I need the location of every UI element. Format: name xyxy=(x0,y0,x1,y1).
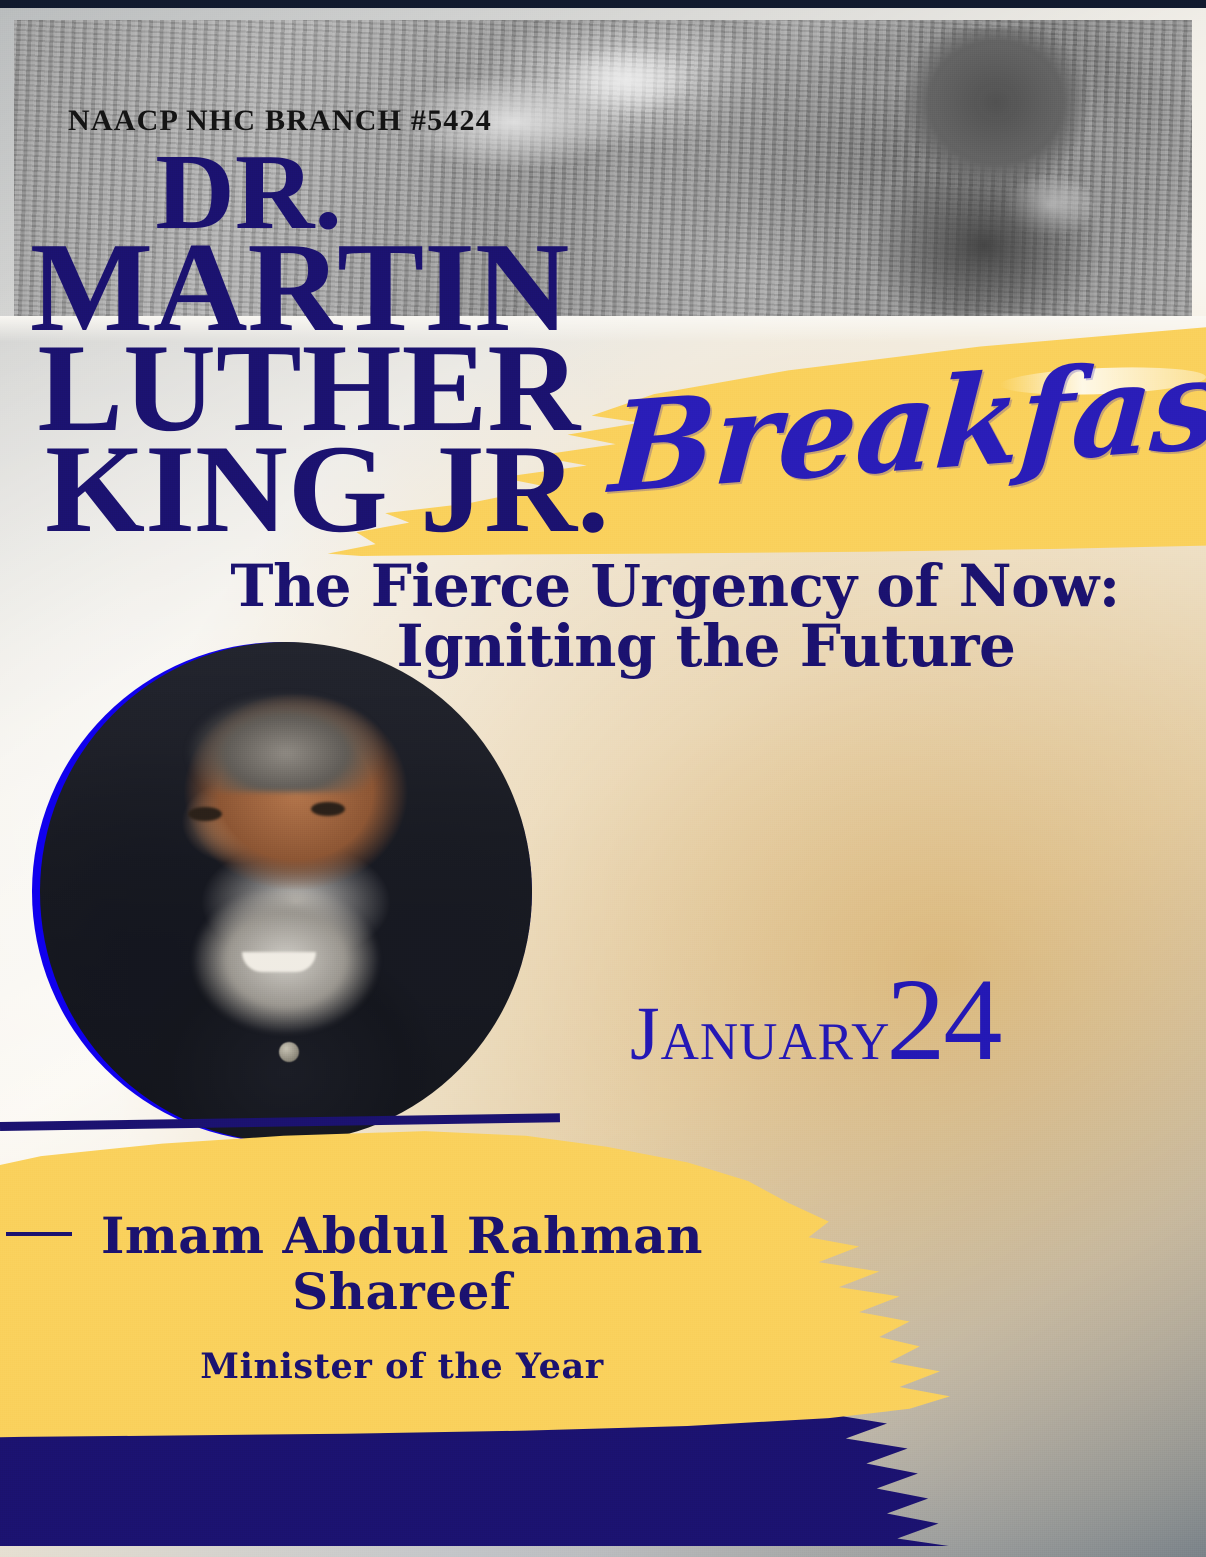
portrait-beard xyxy=(168,892,404,1062)
honoree-award-title: Minister of the Year xyxy=(52,1346,752,1387)
theme-line-1: The Fierce Urgency of Now: xyxy=(230,552,1119,620)
mlk-portrait-figure xyxy=(840,28,1140,314)
event-month: January xyxy=(630,992,890,1076)
top-accent-strip xyxy=(0,0,1206,8)
event-date: January24 xyxy=(630,952,1000,1088)
page-title: DR. MARTIN LUTHER KING JR. xyxy=(0,150,640,540)
portrait-hair xyxy=(158,662,414,792)
portrait-eye-right xyxy=(311,802,345,816)
portrait-button xyxy=(279,1042,299,1062)
honoree-name: Imam Abdul Rahman Shareef xyxy=(52,1208,752,1320)
mlk-breakfast-flyer: NAACP NHC BRANCH #5424 DR. MARTIN LUTHER… xyxy=(0,0,1206,1557)
portrait-image xyxy=(40,642,532,1142)
title-line-4: KING JR. xyxy=(0,440,646,541)
event-day: 24 xyxy=(886,954,1000,1085)
honoree-portrait xyxy=(32,642,532,1142)
honoree-details: Imam Abdul Rahman Shareef Minister of th… xyxy=(52,1208,752,1387)
honoree-name-line-1: Imam Abdul Rahman xyxy=(101,1206,703,1265)
portrait-smile xyxy=(242,952,316,972)
portrait-eye-left xyxy=(188,807,222,821)
honoree-name-line-2: Shareef xyxy=(292,1262,512,1321)
